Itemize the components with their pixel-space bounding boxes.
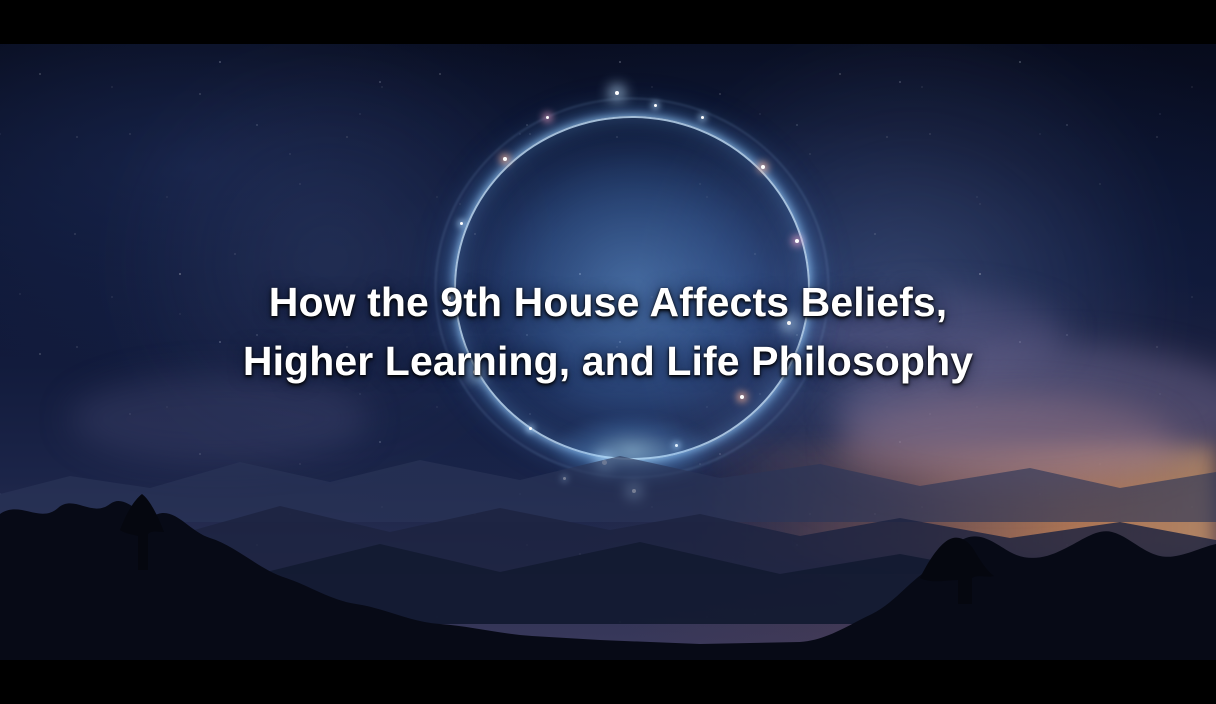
background-photo: How the 9th House Affects Beliefs, Highe…: [0, 44, 1216, 660]
foreground-forest-silhouette: [0, 474, 1216, 660]
letterbox-bar-top: [0, 0, 1216, 44]
hero-banner: How the 9th House Affects Beliefs, Highe…: [0, 0, 1216, 704]
letterbox-bar-bottom: [0, 660, 1216, 704]
